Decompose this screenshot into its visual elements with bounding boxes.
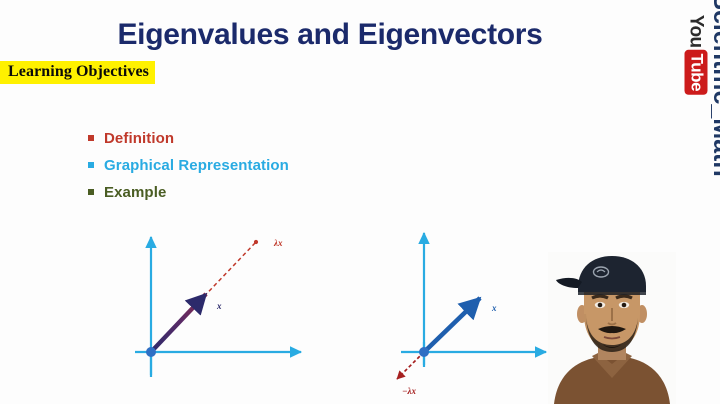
diagram-eigenvector-negative-lambda: x −λx (388, 222, 568, 402)
vector-label-negative-lambda-x: −λx (402, 386, 416, 396)
eigenvector-arrow (151, 294, 206, 352)
vector-label-x: x (491, 303, 497, 313)
slide-canvas: Eigenvalues and Eigenvectors Learning Ob… (0, 0, 720, 404)
origin-point (146, 347, 156, 357)
list-item-label: Example (104, 184, 166, 201)
objectives-list: Definition Graphical Representation Exam… (88, 126, 418, 207)
section-label-learning-objectives: Learning Objectives (0, 61, 155, 84)
list-item-label: Graphical Representation (104, 157, 289, 174)
channel-watermark: You Tube : Scientific_Math (672, 0, 720, 404)
eigenvector-arrow (421, 298, 480, 355)
presenter-webcam-overlay (548, 252, 676, 404)
list-item-definition: Definition (88, 126, 418, 150)
square-bullet-icon (88, 162, 94, 168)
origin-point (419, 347, 429, 357)
square-bullet-icon (88, 189, 94, 195)
page-title: Eigenvalues and Eigenvectors (0, 18, 660, 52)
diagram-eigenvector-positive-lambda: x λx (118, 222, 328, 392)
scaled-vector-tip (254, 240, 258, 244)
list-item-example: Example (88, 180, 418, 204)
list-item-graphical-representation: Graphical Representation (88, 153, 418, 177)
square-bullet-icon (88, 135, 94, 141)
channel-name-text: : Scientific_Math (698, 0, 720, 228)
vector-label-x: x (216, 301, 222, 311)
vector-label-lambda-x: λx (273, 238, 283, 248)
list-item-label: Definition (104, 130, 174, 147)
scaled-vector-arrow (397, 352, 424, 379)
